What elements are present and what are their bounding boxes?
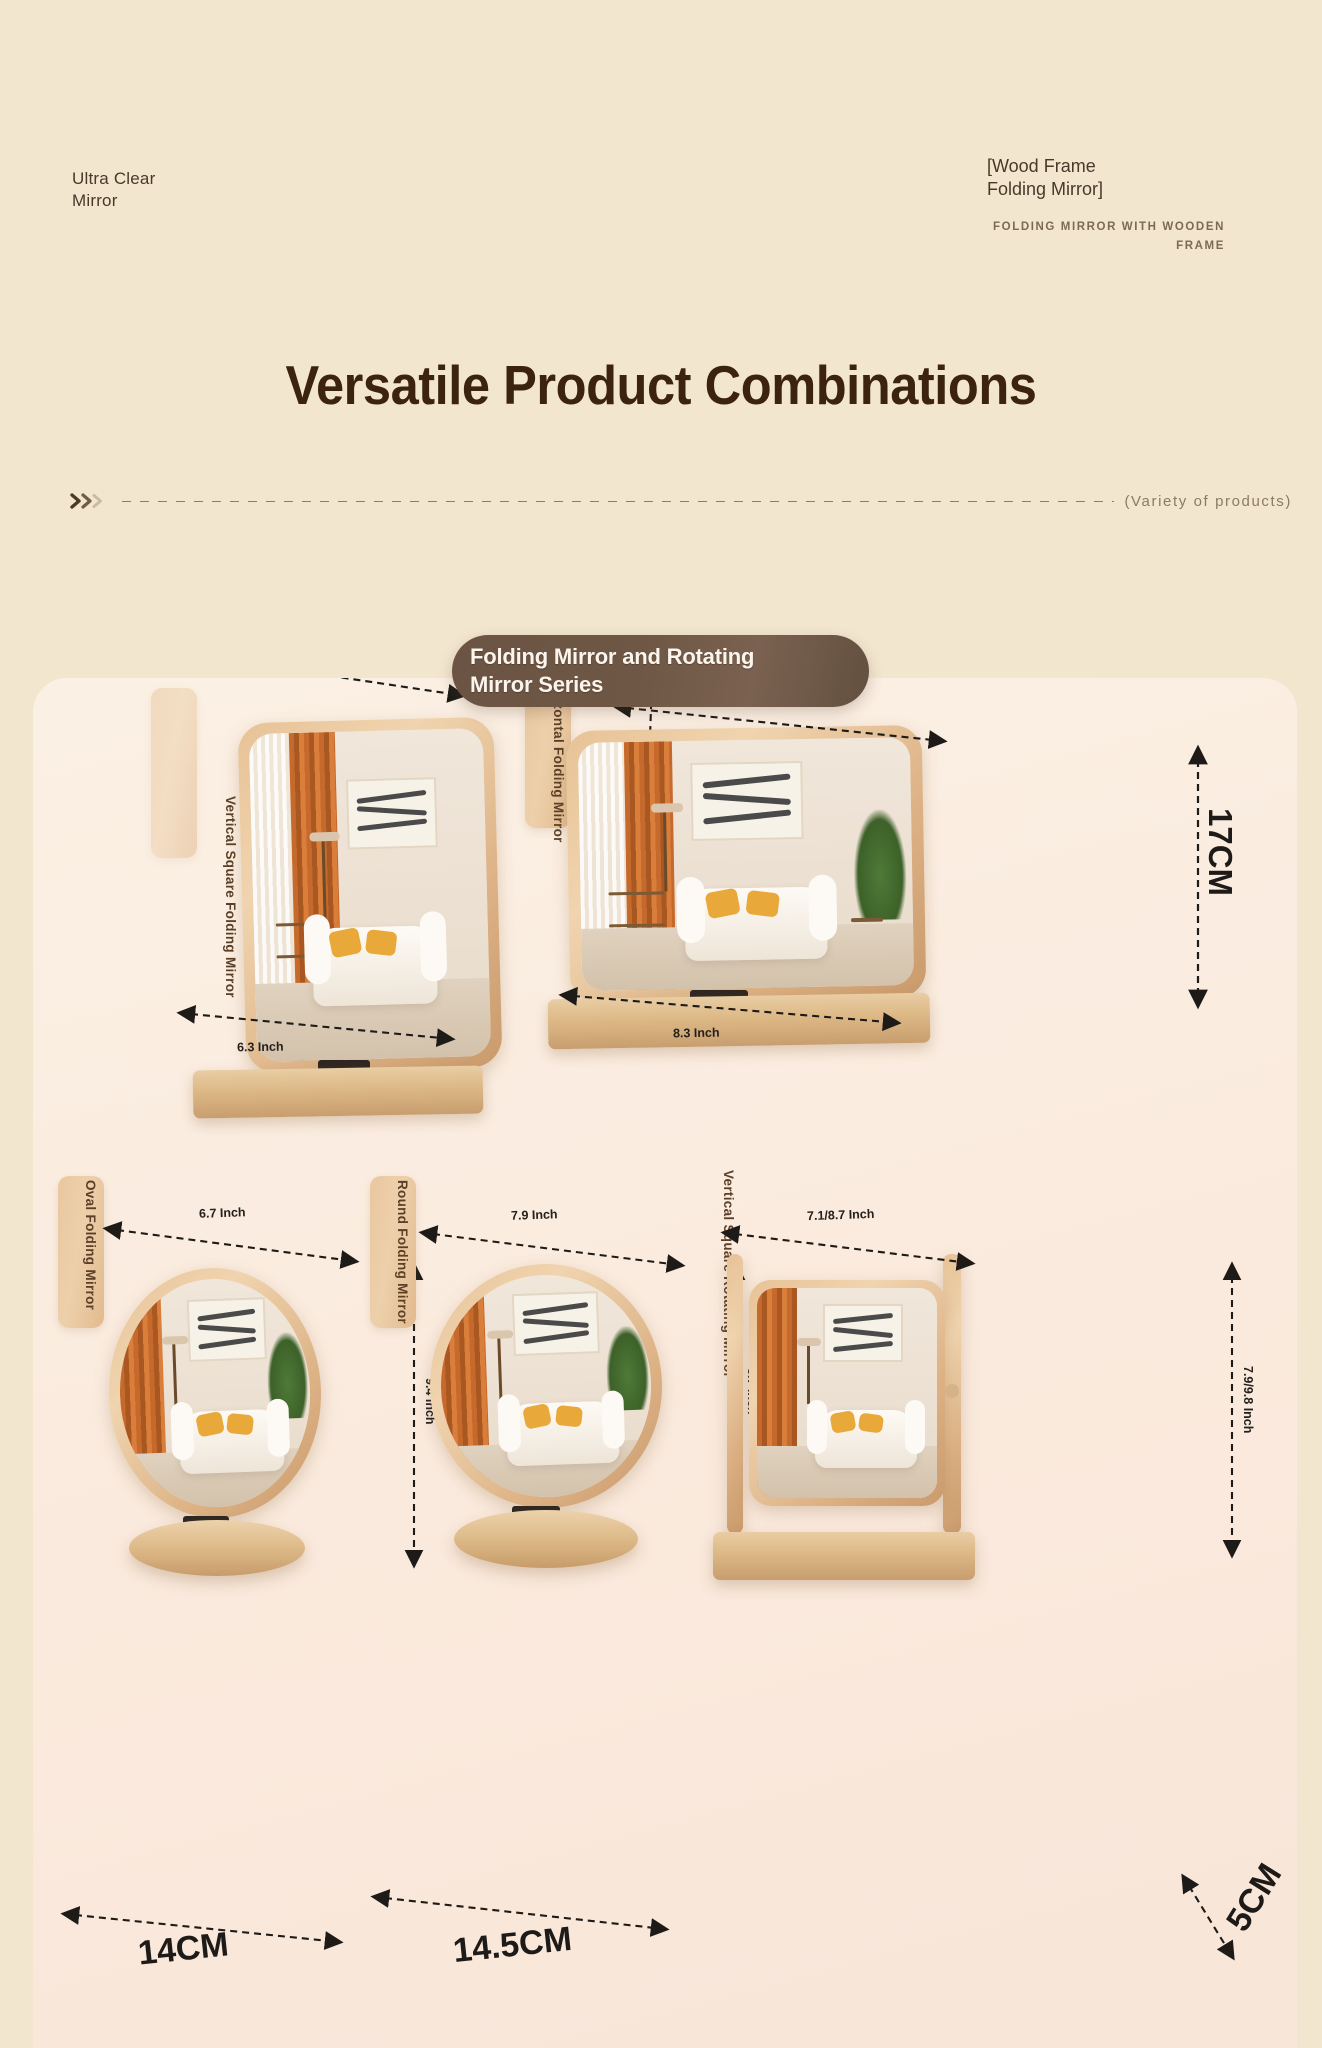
product-2-bottom-dim-arrow	[561, 984, 901, 1032]
product-3-bottom-dim-label: 14CM	[136, 1925, 230, 1973]
header-right-subtitle: FOLDING MIRROR WITH WOODEN FRAME	[987, 218, 1267, 256]
product-1-tab	[151, 688, 197, 858]
series-badge: Folding Mirror and Rotating Mirror Serie…	[452, 635, 869, 707]
product-4-illustration	[408, 1254, 698, 1594]
product-4-mirror-glass	[437, 1271, 655, 1500]
series-badge-label: Folding Mirror and Rotating Mirror Serie…	[452, 643, 754, 699]
product-1-bottom-dim-arrow	[179, 1004, 454, 1048]
product-1-bottom-dim-label: 6.3 Inch	[237, 1040, 284, 1055]
product-5-base	[713, 1532, 975, 1580]
product-5-mirror-glass	[757, 1288, 937, 1498]
divider-right-label: (Variety of products)	[1124, 493, 1292, 510]
product-1-base	[193, 1065, 484, 1118]
product-3-top-dim-arrow	[105, 1216, 357, 1272]
reflected-room-scene	[116, 1276, 314, 1510]
product-3-mirror-glass	[116, 1276, 314, 1510]
product-3-top-dim-label: 6.7 Inch	[199, 1205, 246, 1221]
product-showcase-panel: Vertical Square Folding Mirror	[33, 678, 1297, 2048]
header-right-block: [Wood Frame Folding Mirror] FOLDING MIRR…	[987, 155, 1267, 256]
product-2-illustration	[558, 718, 978, 1118]
product-5-side-dim-label: 7.9/9.8 Inch	[1241, 1366, 1255, 1433]
product-4-base	[454, 1510, 638, 1568]
product-5-left-post	[727, 1254, 743, 1534]
reflected-room-scene	[757, 1288, 937, 1498]
reflected-room-scene	[578, 737, 914, 991]
divider-dashed-line	[122, 501, 1114, 502]
product-5-top-dim-arrow	[723, 1218, 973, 1274]
chevrons-right-icon	[70, 492, 110, 510]
product-1-top-dim-arrow	[199, 678, 464, 704]
reflected-room-scene	[437, 1271, 655, 1500]
product-5-illustration	[705, 1244, 1025, 1604]
product-2-side-dim-label: 17CM	[1201, 808, 1239, 896]
product-2-bottom-dim-label: 8.3 Inch	[673, 1026, 720, 1041]
product-2-mirror-glass	[578, 737, 914, 991]
product-3-base	[129, 1520, 305, 1576]
product-5-top-dim-label: 7.1/8.7 Inch	[807, 1207, 875, 1223]
product-4-top-dim-arrow	[421, 1218, 683, 1276]
page-title: Versatile Product Combinations	[53, 353, 1269, 417]
product-3-illustration	[91, 1258, 361, 1588]
header-left-label: Ultra Clear Mirror	[72, 168, 155, 212]
product-4-top-dim-label: 7.9 Inch	[511, 1207, 558, 1223]
header-right-title: [Wood Frame Folding Mirror]	[987, 155, 1267, 202]
section-divider: (Variety of products)	[70, 490, 1292, 512]
